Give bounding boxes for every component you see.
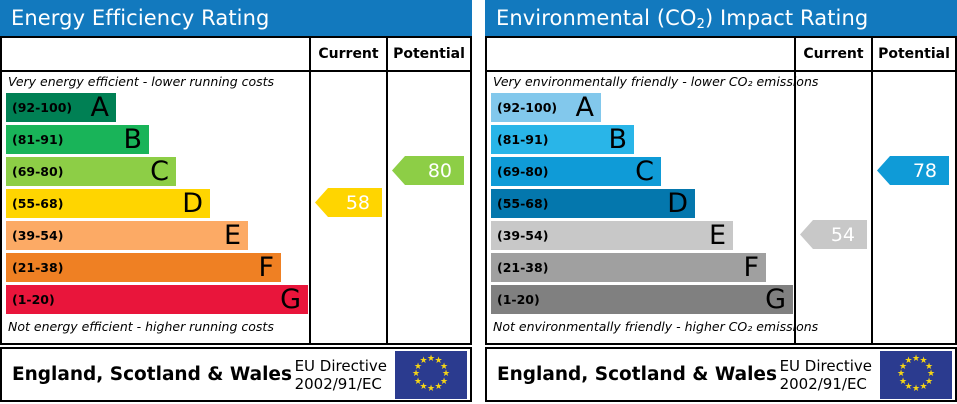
band-letter-f: F [258, 253, 274, 280]
band-range-c-co2: (69-80) [491, 164, 548, 179]
band-range-c: (69-80) [6, 164, 63, 179]
potential-rating-value-co2: 78 [913, 160, 937, 182]
band-row-b: (81-91) B [2, 124, 470, 155]
band-bar-g: (1-20) G [6, 285, 308, 314]
chart-title-co2-prefix: Environmental (CO [496, 6, 697, 30]
current-rating-value-co2: 54 [831, 224, 855, 246]
band-row-c-co2: (69-80) C 78 [487, 156, 955, 187]
chart-title-co2-subscript: 2 [697, 17, 705, 32]
chart-title-energy: Energy Efficiency Rating [0, 0, 472, 36]
eu-star-icon: ★ [419, 357, 428, 366]
band-row-d-co2: (55-68) D [487, 188, 955, 219]
column-header-row-energy: Current Potential [2, 38, 470, 72]
band-row-e-co2: (39-54) E 54 [487, 220, 955, 251]
band-range-g-co2: (1-20) [491, 292, 540, 307]
chart-footer-co2: England, Scotland & Wales EU Directive 2… [485, 347, 957, 402]
footer-directive-line2: 2002/91/EC [295, 375, 387, 393]
chart-body-co2: Current Potential Very environmentally f… [485, 36, 957, 345]
band-range-e-co2: (39-54) [491, 228, 548, 243]
band-range-g: (1-20) [6, 292, 55, 307]
footer-directive-line2-co2: 2002/91/EC [780, 375, 872, 393]
band-bar-d-co2: (55-68) D [491, 189, 695, 218]
chart-title-co2: Environmental (CO2) Impact Rating [485, 0, 957, 36]
band-letter-c-co2: C [635, 157, 654, 184]
band-range-b: (81-91) [6, 132, 63, 147]
band-letter-e: E [224, 221, 241, 248]
potential-rating-value-energy: 80 [428, 160, 452, 182]
note-bottom-co2: Not environmentally friendly - higher CO… [487, 317, 955, 337]
epc-charts-page: Energy Efficiency Rating Current Potenti… [0, 0, 957, 404]
column-header-current-co2: Current [796, 38, 871, 70]
band-letter-b: B [123, 125, 142, 152]
band-row-c: (69-80) C 80 [2, 156, 470, 187]
eu-star-icon: ★ [904, 357, 913, 366]
footer-directive-energy: EU Directive 2002/91/EC [295, 357, 395, 393]
band-range-a: (92-100) [6, 100, 72, 115]
column-header-potential: Potential [388, 38, 470, 70]
band-row-b-co2: (81-91) B [487, 124, 955, 155]
band-range-b-co2: (81-91) [491, 132, 548, 147]
band-letter-f-co2: F [743, 253, 759, 280]
band-letter-b-co2: B [608, 125, 627, 152]
band-bar-g-co2: (1-20) G [491, 285, 793, 314]
band-row-d: (55-68) D 58 [2, 188, 470, 219]
potential-rating-arrow-co2: 78 [877, 156, 949, 185]
column-header-potential-co2: Potential [873, 38, 955, 70]
band-row-g: (1-20) G [2, 284, 470, 315]
band-bar-f-co2: (21-38) F [491, 253, 766, 282]
band-row-g-co2: (1-20) G [487, 284, 955, 315]
band-range-f-co2: (21-38) [491, 260, 548, 275]
note-top-energy: Very energy efficient - lower running co… [2, 72, 470, 92]
band-letter-d-co2: D [667, 189, 688, 216]
band-range-e: (39-54) [6, 228, 63, 243]
band-bar-f: (21-38) F [6, 253, 281, 282]
footer-directive-line1-co2: EU Directive [780, 357, 872, 375]
chart-footer-energy: England, Scotland & Wales EU Directive 2… [0, 347, 472, 402]
current-rating-arrow-co2: 54 [800, 220, 867, 249]
co2-impact-rating-chart: Environmental (CO2) Impact Rating Curren… [485, 0, 957, 404]
footer-directive-co2: EU Directive 2002/91/EC [780, 357, 880, 393]
footer-directive-line1: EU Directive [295, 357, 387, 375]
band-bar-c: (69-80) C [6, 157, 176, 186]
note-bottom-energy: Not energy efficient - higher running co… [2, 317, 470, 337]
chart-title-co2-suffix: ) Impact Rating [705, 6, 868, 30]
band-bar-b-co2: (81-91) B [491, 125, 634, 154]
band-bar-e-co2: (39-54) E [491, 221, 733, 250]
band-letter-g: G [280, 285, 301, 312]
band-bar-a: (92-100) A [6, 93, 116, 122]
band-row-e: (39-54) E [2, 220, 470, 251]
potential-rating-arrow-energy: 80 [392, 156, 464, 185]
band-range-d: (55-68) [6, 196, 63, 211]
band-range-a-co2: (92-100) [491, 100, 557, 115]
band-bar-b: (81-91) B [6, 125, 149, 154]
band-letter-g-co2: G [765, 285, 786, 312]
band-list-co2: (92-100) A (81-91) B (69-80) C [487, 92, 955, 317]
band-letter-a-co2: A [576, 93, 594, 120]
band-row-f-co2: (21-38) F [487, 252, 955, 283]
current-rating-arrow-energy: 58 [315, 188, 382, 217]
eu-flag-icon: ★★★★★★★★★★★★ [395, 351, 467, 399]
band-range-f: (21-38) [6, 260, 63, 275]
column-header-current: Current [311, 38, 386, 70]
footer-region-energy: England, Scotland & Wales [2, 364, 295, 385]
band-row-a: (92-100) A [2, 92, 470, 123]
energy-efficiency-rating-chart: Energy Efficiency Rating Current Potenti… [0, 0, 472, 404]
eu-flag-icon-co2: ★★★★★★★★★★★★ [880, 351, 952, 399]
band-bar-e: (39-54) E [6, 221, 248, 250]
band-bar-d: (55-68) D [6, 189, 210, 218]
band-letter-a: A [91, 93, 109, 120]
band-range-d-co2: (55-68) [491, 196, 548, 211]
band-bar-a-co2: (92-100) A [491, 93, 601, 122]
current-rating-value-energy: 58 [346, 192, 370, 214]
band-list-energy: (92-100) A (81-91) B (69-80) C [2, 92, 470, 317]
band-row-f: (21-38) F [2, 252, 470, 283]
band-letter-c: C [150, 157, 169, 184]
band-row-a-co2: (92-100) A [487, 92, 955, 123]
column-header-row-co2: Current Potential [487, 38, 955, 72]
band-letter-e-co2: E [709, 221, 726, 248]
note-top-co2: Very environmentally friendly - lower CO… [487, 72, 955, 92]
band-bar-c-co2: (69-80) C [491, 157, 661, 186]
chart-body-energy: Current Potential Very energy efficient … [0, 36, 472, 345]
band-letter-d: D [182, 189, 203, 216]
footer-region-co2: England, Scotland & Wales [487, 364, 780, 385]
